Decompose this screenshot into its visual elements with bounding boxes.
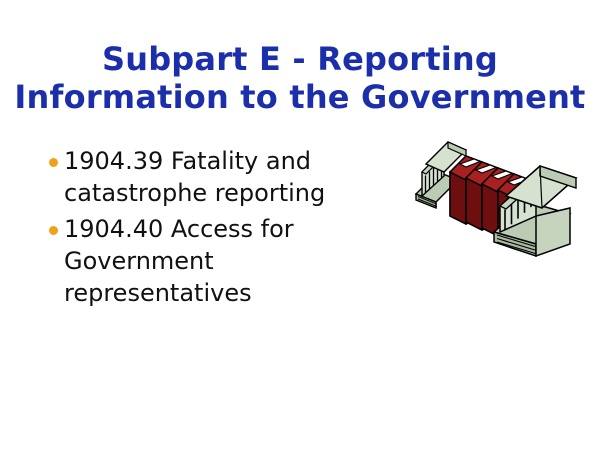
list-item-label: 1904.40 Access for Government representa…: [64, 213, 404, 309]
slide-canvas: Subpart E - Reporting Information to the…: [0, 0, 600, 450]
list-item: 1904.40 Access for Government representa…: [44, 213, 404, 309]
list-item-label: 1904.39 Fatality and catastrophe reporti…: [64, 145, 404, 209]
bullet-list: 1904.39 Fatality and catastrophe reporti…: [44, 145, 404, 313]
bullet-dot-icon: [44, 145, 64, 167]
list-item: 1904.39 Fatality and catastrophe reporti…: [44, 145, 404, 209]
government-buildings-and-ledgers-image: [408, 132, 584, 264]
title-line-2: Information to the Government: [0, 78, 600, 116]
bullet-dot-icon: [44, 213, 64, 235]
page-title: Subpart E - Reporting Information to the…: [0, 40, 600, 116]
title-line-1: Subpart E - Reporting: [0, 40, 600, 78]
